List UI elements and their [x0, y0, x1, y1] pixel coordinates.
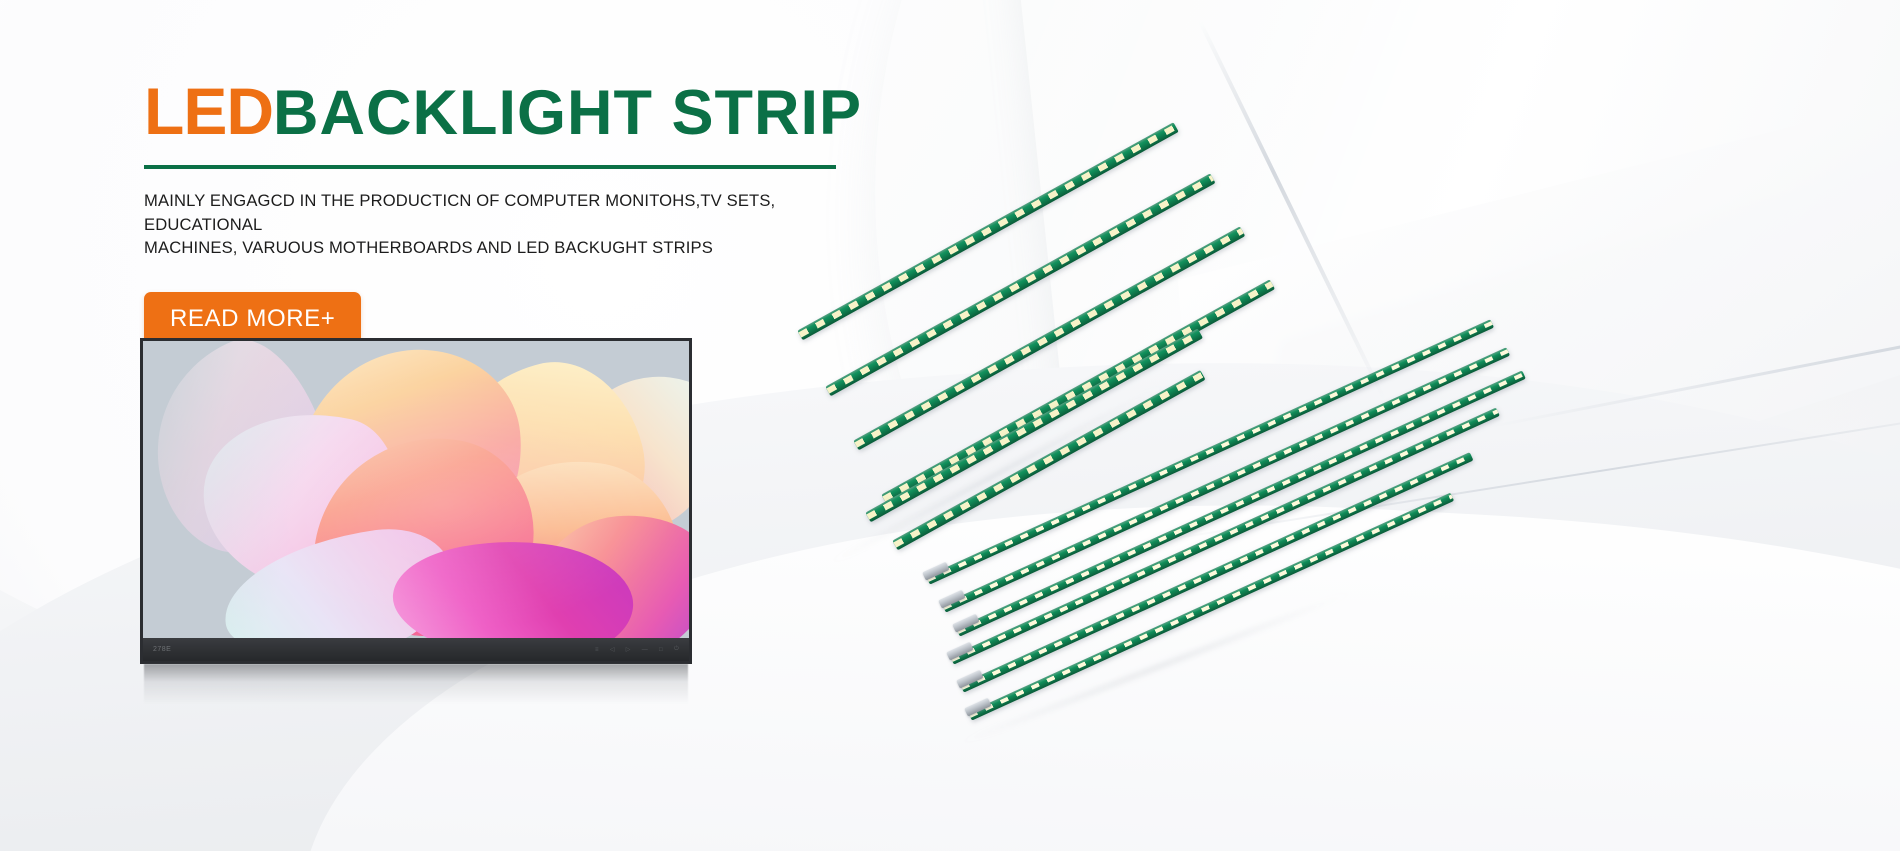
monitor-right-icon[interactable]: ▷ [626, 646, 631, 653]
led-strip-connector [938, 590, 965, 609]
led-strip-connector [952, 614, 979, 633]
wallpaper-edge-fade [143, 341, 689, 638]
monitor-menu-icon[interactable]: ≡ [595, 647, 599, 653]
led-strip [865, 328, 1203, 522]
monitor-product-image: 278E ≡ ◁ ▷ — □ ⏻ [140, 338, 692, 678]
page-title-main: BACKLIGHT STRIP [273, 78, 862, 148]
led-strip-shadow [829, 382, 1167, 566]
monitor-bottom-bezel: 278E ≡ ◁ ▷ — □ ⏻ [140, 638, 692, 664]
led-strip [881, 279, 1275, 504]
led-strip-connector [956, 670, 983, 689]
hero-subtitle-line-2: MACHINES, VARUOUS MOTHERBOARDS AND LED B… [144, 236, 814, 260]
led-strip [956, 370, 1526, 636]
background-line-3 [1155, 400, 1900, 543]
monitor-minus-icon[interactable]: — [642, 647, 648, 653]
page-title-accent: LED [144, 74, 273, 148]
led-strip [968, 493, 1454, 721]
monitor-model-label: 278E [153, 646, 171, 653]
background-swoosh-diag-1 [1013, 0, 1900, 639]
led-strip [926, 319, 1494, 584]
hero-subtitle: MAINLY ENGAGCD IN THE PRODUCTICN OF COMP… [144, 189, 814, 260]
led-strip-connector [946, 642, 973, 661]
background-swoosh-diag-2 [1178, 14, 1900, 807]
monitor-screen [140, 338, 692, 638]
background-soft-shadow [1269, 147, 1900, 613]
screen-wallpaper [143, 341, 689, 638]
led-strip-connector [964, 698, 991, 717]
led-strip [960, 452, 1473, 692]
hero-subtitle-line-1: MAINLY ENGAGCD IN THE PRODUCTICN OF COMP… [144, 191, 775, 234]
monitor-square-icon[interactable]: □ [659, 647, 663, 653]
monitor-left-icon[interactable]: ◁ [610, 646, 615, 653]
title-underline-rule [144, 165, 836, 169]
led-strip [892, 370, 1205, 550]
background-line-2 [1489, 235, 1900, 429]
led-backlight-hero-banner: LEDBACKLIGHT STRIP MAINLY ENGAGCD IN THE… [0, 0, 1900, 851]
hero-text-block: LEDBACKLIGHT STRIP MAINLY ENGAGCD IN THE… [144, 78, 904, 347]
monitor-control-icons[interactable]: ≡ ◁ ▷ — □ ⏻ [595, 646, 679, 653]
led-strip [853, 226, 1245, 450]
led-strip [950, 408, 1500, 665]
led-strip-shadow [959, 590, 1353, 746]
led-strip-connector [922, 562, 949, 581]
monitor-power-icon[interactable]: ⏻ [674, 646, 679, 653]
led-strip [942, 347, 1510, 612]
monitor-reflection [144, 664, 688, 704]
page-title: LEDBACKLIGHT STRIP [144, 78, 904, 145]
background-line-1 [1198, 20, 1386, 399]
